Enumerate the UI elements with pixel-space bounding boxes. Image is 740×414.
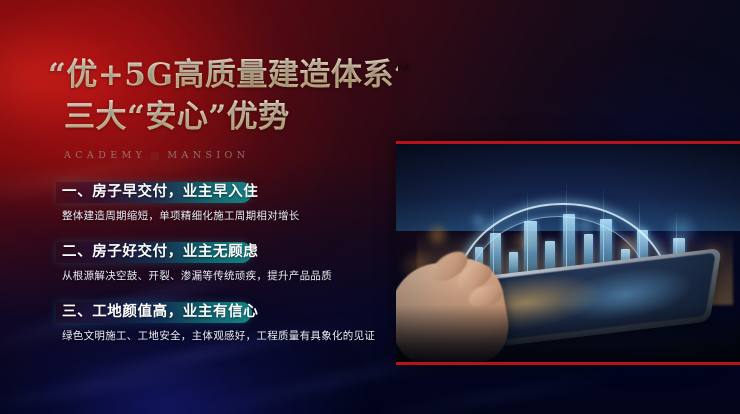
content-column: “优+5G高质量建造体系” 三大“安心”优势 ACADEMY MANSION 一…: [0, 0, 400, 414]
brand-name-left: ACADEMY: [64, 150, 146, 161]
advantage-subtext: 从根源解决空鼓、开裂、渗漏等传统顽疾，提升产品品质: [62, 268, 332, 283]
brand-lockup: ACADEMY MANSION: [64, 150, 249, 161]
headline-line-1: “优+5G高质量建造体系”: [48, 54, 398, 96]
brand-separator-square-icon: [151, 152, 159, 160]
advantage-heading: 二、房子好交付，业主无顾虑: [62, 242, 258, 263]
page-title: “优+5G高质量建造体系” 三大“安心”优势: [48, 54, 398, 138]
advantage-heading: 三、工地颜值高，业主有信心: [62, 302, 258, 323]
advantage-subtext: 绿色文明施工、工地安全，主体观感好，工程质量有具象化的见证: [62, 328, 375, 343]
slide-root: “优+5G高质量建造体系” 三大“安心”优势 ACADEMY MANSION 一…: [0, 0, 740, 414]
photo-vignette: [396, 144, 740, 362]
list-item: 一、房子早交付，业主早入住 整体建造周期缩短，单项精细化施工周期相对增长: [0, 182, 400, 242]
hero-image-frame: [396, 141, 740, 365]
advantage-heading: 一、房子早交付，业主早入住: [62, 182, 258, 203]
headline-line-2: 三大“安心”优势: [64, 96, 398, 138]
list-item: 三、工地颜值高，业主有信心 绿色文明施工、工地安全，主体观感好，工程质量有具象化…: [0, 302, 400, 362]
list-item: 二、房子好交付，业主无顾虑 从根源解决空鼓、开裂、渗漏等传统顽疾，提升产品品质: [0, 242, 400, 302]
hero-image: [396, 144, 740, 362]
advantages-list: 一、房子早交付，业主早入住 整体建造周期缩短，单项精细化施工周期相对增长 二、房…: [0, 182, 400, 362]
advantage-subtext: 整体建造周期缩短，单项精细化施工周期相对增长: [62, 208, 300, 223]
brand-name-right: MANSION: [167, 150, 249, 161]
